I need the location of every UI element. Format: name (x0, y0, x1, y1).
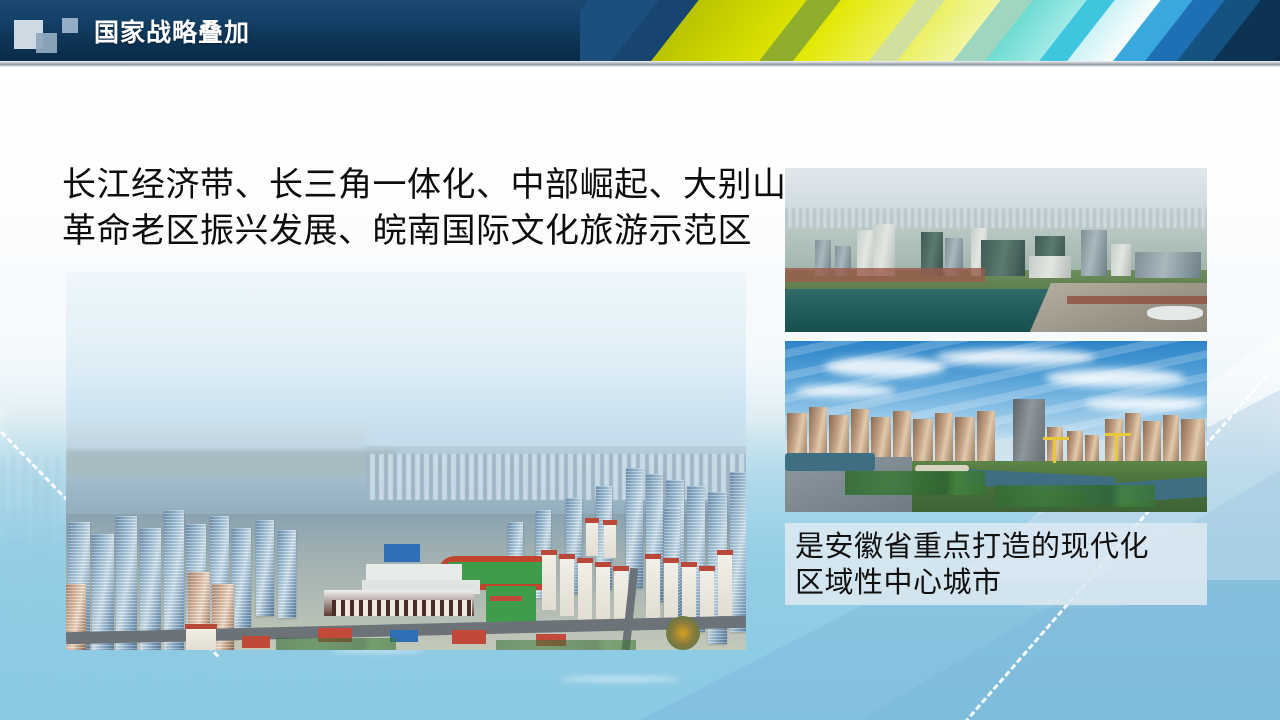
caption-line-2: 区域性中心城市 (795, 564, 1149, 600)
headline-text: 长江经济带、长三角一体化、中部崛起、大别山 革命老区振兴发展、皖南国际文化旅游示… (62, 163, 782, 255)
lakefront-cityscape-photo (785, 168, 1207, 332)
header-underline (0, 61, 1280, 67)
logo-square-small (62, 18, 78, 33)
headline-line-2: 革命老区振兴发展、皖南国际文化旅游示范区 (62, 209, 782, 255)
header-ribbon-decoration (580, 0, 1280, 61)
headline-line-1: 长江经济带、长三角一体化、中部崛起、大别山 (62, 163, 782, 209)
three-squares-logo (10, 14, 78, 50)
header-bar: 国家战略叠加 (0, 0, 1280, 61)
slide-root: 国家战略叠加 长江经济带、长三角一体化、中部崛起、大别山 革命老区振兴发展、皖南… (0, 0, 1280, 720)
page-title: 国家战略叠加 (94, 13, 250, 49)
skyline-river-photo (785, 341, 1207, 512)
caption-text: 是安徽省重点打造的现代化 区域性中心城市 (785, 528, 1149, 601)
caption-line-1: 是安徽省重点打造的现代化 (795, 528, 1149, 564)
aerial-city-main-photo (66, 272, 746, 650)
caption-box: 是安徽省重点打造的现代化 区域性中心城市 (785, 523, 1207, 605)
logo-square-medium (36, 33, 57, 53)
